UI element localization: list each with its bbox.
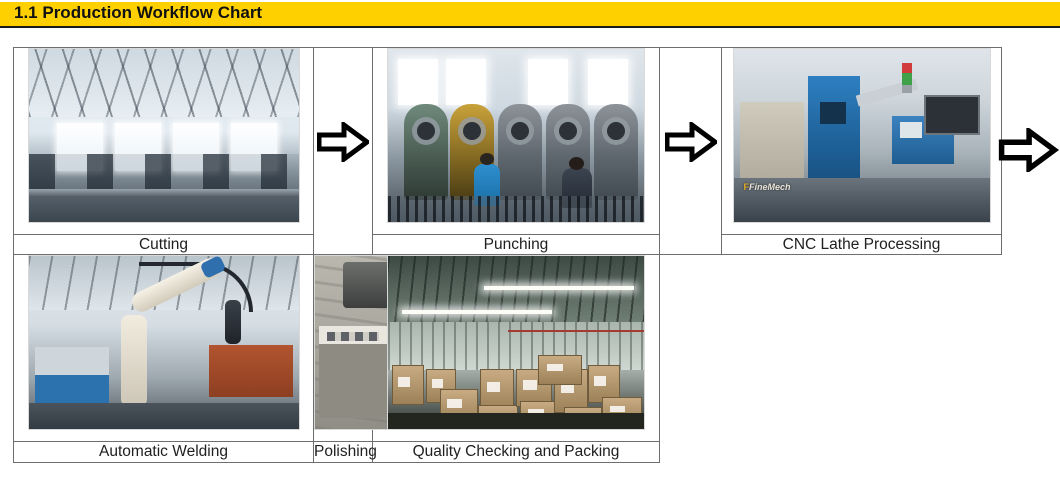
table-row [14,255,1002,442]
signal-lamp-decor [902,63,912,93]
right-arrow-icon [996,128,1060,172]
arrow-cell-2 [660,48,722,255]
floor-decor [29,403,299,429]
monitor-decor [924,95,980,135]
light-strip-decor [402,310,552,314]
photo-punching [387,48,645,223]
welding-torch-decor [225,300,241,344]
tools-decor [327,332,379,341]
right-arrow-icon [665,122,717,162]
step-label-3: CNC Lathe Processing [722,235,1002,255]
page-title: 1.1 Production Workflow Chart [14,3,262,23]
window-decor [588,59,628,105]
step-photo-cell-1 [14,48,314,235]
step-label-1: Cutting [14,235,314,255]
window-decor [398,59,438,105]
floor-decor [29,196,299,222]
crates-decor [388,196,644,222]
table-row: Cutting Punching CNC Lathe Processing [14,235,1002,255]
equipment-decor [35,347,109,405]
light-strip-decor [484,286,634,290]
press-machine-decor [594,104,638,200]
press-machine-decor [498,104,542,200]
step-label-6: Quality Checking and Packing [373,442,660,462]
step-photo-cell-3: FFineMech [722,48,1002,235]
table-row: Automatic Welding Polishing Quality Chec… [14,442,1002,462]
workflow-continuation-arrow [996,128,1060,174]
step-label-5: Polishing [314,442,373,462]
step-photo-cell-4 [14,255,314,442]
step-label-4: Automatic Welding [14,442,314,462]
photo-automatic-welding [28,255,300,430]
floor-decor [388,413,644,429]
window-decor [446,59,486,105]
workpiece-decor [209,345,293,397]
arrow-cell-1 [314,48,373,255]
step-photo-cell-2 [373,48,660,235]
robot-base-decor [121,315,147,407]
photo-cutting [28,48,300,223]
right-arrow-icon [317,122,369,162]
press-machine-decor [404,104,448,200]
roof-decor [388,256,644,330]
wall-line-decor [508,330,644,332]
step-photo-cell-5 [314,255,373,442]
step-label-2: Punching [373,235,660,255]
photo-quality-checking-packing [387,255,645,430]
step-photo-cell-6 [373,255,660,442]
machine-brand-logo: FFineMech [744,182,791,192]
roof-truss-decor [29,49,299,117]
window-decor [528,59,568,105]
rail-decor [29,189,299,196]
photo-cnc-lathe: FFineMech [733,48,991,223]
table-row: FFineMech [14,48,1002,235]
production-workflow-table: FFineMech Cutting Punching CNC Lathe Pro… [13,47,1002,463]
